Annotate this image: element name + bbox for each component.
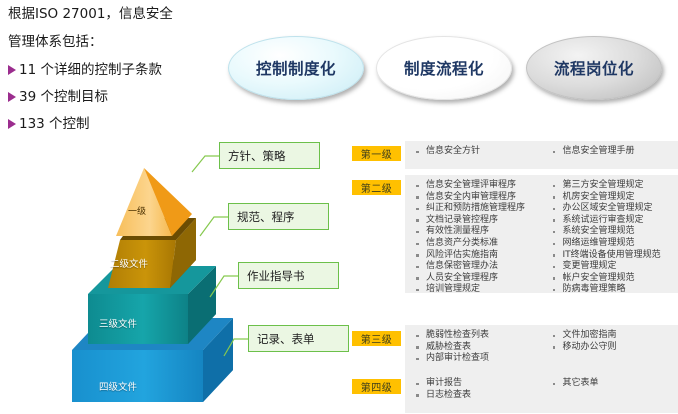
level-1-left-column: 信息安全方针: [405, 146, 542, 169]
list-item: 文档记录管控程序: [415, 215, 542, 227]
list-item: 信息安全内审管理程序: [415, 192, 542, 204]
list-item: 防病毒管理策略: [552, 284, 678, 296]
list-item: 办公区域安全管理规定: [552, 203, 678, 215]
callout-work-instruction: 作业指导书: [238, 262, 339, 289]
level-4-right-list: 其它表单: [552, 378, 678, 390]
list-item: 纠正和预防措施管理程序: [415, 203, 542, 215]
triangle-bullet-icon: [8, 65, 16, 75]
level-2-left-list: 信息安全管理评审程序信息安全内审管理程序纠正和预防措施管理程序文档记录管控程序有…: [415, 180, 542, 296]
level-4-left-column: 审计报告日志检查表: [405, 378, 542, 413]
ellipse-process-positionization: 流程岗位化: [526, 36, 662, 100]
level-3-right-column: 文件加密指南移动办公守则: [542, 330, 678, 375]
list-item: 其它表单: [552, 378, 678, 390]
ellipse-system-processization: 制度流程化: [376, 36, 512, 100]
list-item: 网络运维管理规范: [552, 238, 678, 250]
intro-bullet-1: 11 个详细的控制子条款: [8, 62, 230, 78]
level-4-right-column: 其它表单: [542, 378, 678, 413]
list-item: 系统试运行审查规定: [552, 215, 678, 227]
intro-bullet-1-label: 11 个详细的控制子条款: [19, 62, 162, 78]
list-item: 审计报告: [415, 378, 542, 390]
list-item: 内部审计检查项: [415, 353, 542, 365]
level-2-left-column: 信息安全管理评审程序信息安全内审管理程序纠正和预防措施管理程序文档记录管控程序有…: [405, 180, 542, 293]
level-3-left-column: 脆弱性检查列表威胁检查表内部审计检查项: [405, 330, 542, 375]
pyramid-tier2-front: [108, 240, 176, 288]
level-2-right-list: 第三方安全管理规定机房安全管理规定办公区域安全管理规定系统试运行审查规定系统安全…: [552, 180, 678, 296]
level-badge-4: 第四级: [352, 379, 401, 394]
level-1-left-list: 信息安全方针: [415, 146, 542, 158]
list-item: 机房安全管理规定: [552, 192, 678, 204]
list-item: 帐户安全管理规范: [552, 273, 678, 285]
triangle-bullet-icon: [8, 119, 16, 129]
intro-bullet-3-label: 133 个控制: [19, 116, 90, 132]
list-item: 有效性测量程序: [415, 226, 542, 238]
intro-line-1: 根据ISO 27001，信息安全: [8, 6, 230, 23]
level-2-panel: 信息安全管理评审程序信息安全内审管理程序纠正和预防措施管理程序文档记录管控程序有…: [405, 175, 678, 293]
level-badge-1: 第一级: [352, 146, 401, 161]
list-item: 系统安全管理规范: [552, 226, 678, 238]
slide-canvas: 根据ISO 27001，信息安全 管理体系包括： 11 个详细的控制子条款 39…: [0, 0, 678, 414]
level-4-left-list: 审计报告日志检查表: [415, 378, 542, 401]
list-item: 脆弱性检查列表: [415, 330, 542, 342]
level-1-right-column: 信息安全管理手册: [542, 146, 678, 169]
callout-record-form: 记录、表单: [248, 325, 349, 352]
intro-text-block: 根据ISO 27001，信息安全 管理体系包括： 11 个详细的控制子条款 39…: [8, 6, 230, 143]
list-item: 信息安全方针: [415, 146, 542, 158]
list-item: 日志检查表: [415, 390, 542, 402]
level-badge-3: 第三级: [352, 331, 401, 346]
pyramid-tier3-front: [88, 294, 188, 344]
list-item: 第三方安全管理规定: [552, 180, 678, 192]
list-item: 移动办公守则: [552, 342, 678, 354]
list-item: 信息安全管理手册: [552, 146, 678, 158]
level-2-right-column: 第三方安全管理规定机房安全管理规定办公区域安全管理规定系统试运行审查规定系统安全…: [542, 180, 678, 293]
list-item: IT终端设备使用管理规范: [552, 250, 678, 262]
level-1-panel: 信息安全方针 信息安全管理手册: [405, 141, 678, 169]
list-item: 变更管理规定: [552, 261, 678, 273]
list-item: 培训管理规定: [415, 284, 542, 296]
level-4-panel: 审计报告日志检查表 其它表单: [405, 373, 678, 413]
pyramid-tier4-front: [72, 350, 203, 402]
intro-bullet-2-label: 39 个控制目标: [19, 89, 108, 105]
list-item: 文件加密指南: [552, 330, 678, 342]
level-3-panel: 脆弱性检查列表威胁检查表内部审计检查项 文件加密指南移动办公守则: [405, 325, 678, 375]
callout-policy-strategy: 方针、策略: [219, 142, 320, 169]
intro-bullet-3: 133 个控制: [8, 116, 230, 132]
list-item: 信息安全管理评审程序: [415, 180, 542, 192]
level-1-right-list: 信息安全管理手册: [552, 146, 678, 158]
intro-line-2: 管理体系包括：: [8, 34, 230, 51]
list-item: 信息保密管理办法: [415, 261, 542, 273]
list-item: 风险评估实施指南: [415, 250, 542, 262]
list-item: 威胁检查表: [415, 342, 542, 354]
ellipse-control-systemization: 控制制度化: [228, 36, 364, 100]
intro-bullet-2: 39 个控制目标: [8, 89, 230, 105]
list-item: 人员安全管理程序: [415, 273, 542, 285]
level-3-right-list: 文件加密指南移动办公守则: [552, 330, 678, 353]
list-item: 信息资产分类标准: [415, 238, 542, 250]
triangle-bullet-icon: [8, 92, 16, 102]
level-badge-2: 第二级: [352, 180, 401, 195]
callout-standard-procedure: 规范、程序: [228, 203, 329, 230]
level-3-left-list: 脆弱性检查列表威胁检查表内部审计检查项: [415, 330, 542, 365]
